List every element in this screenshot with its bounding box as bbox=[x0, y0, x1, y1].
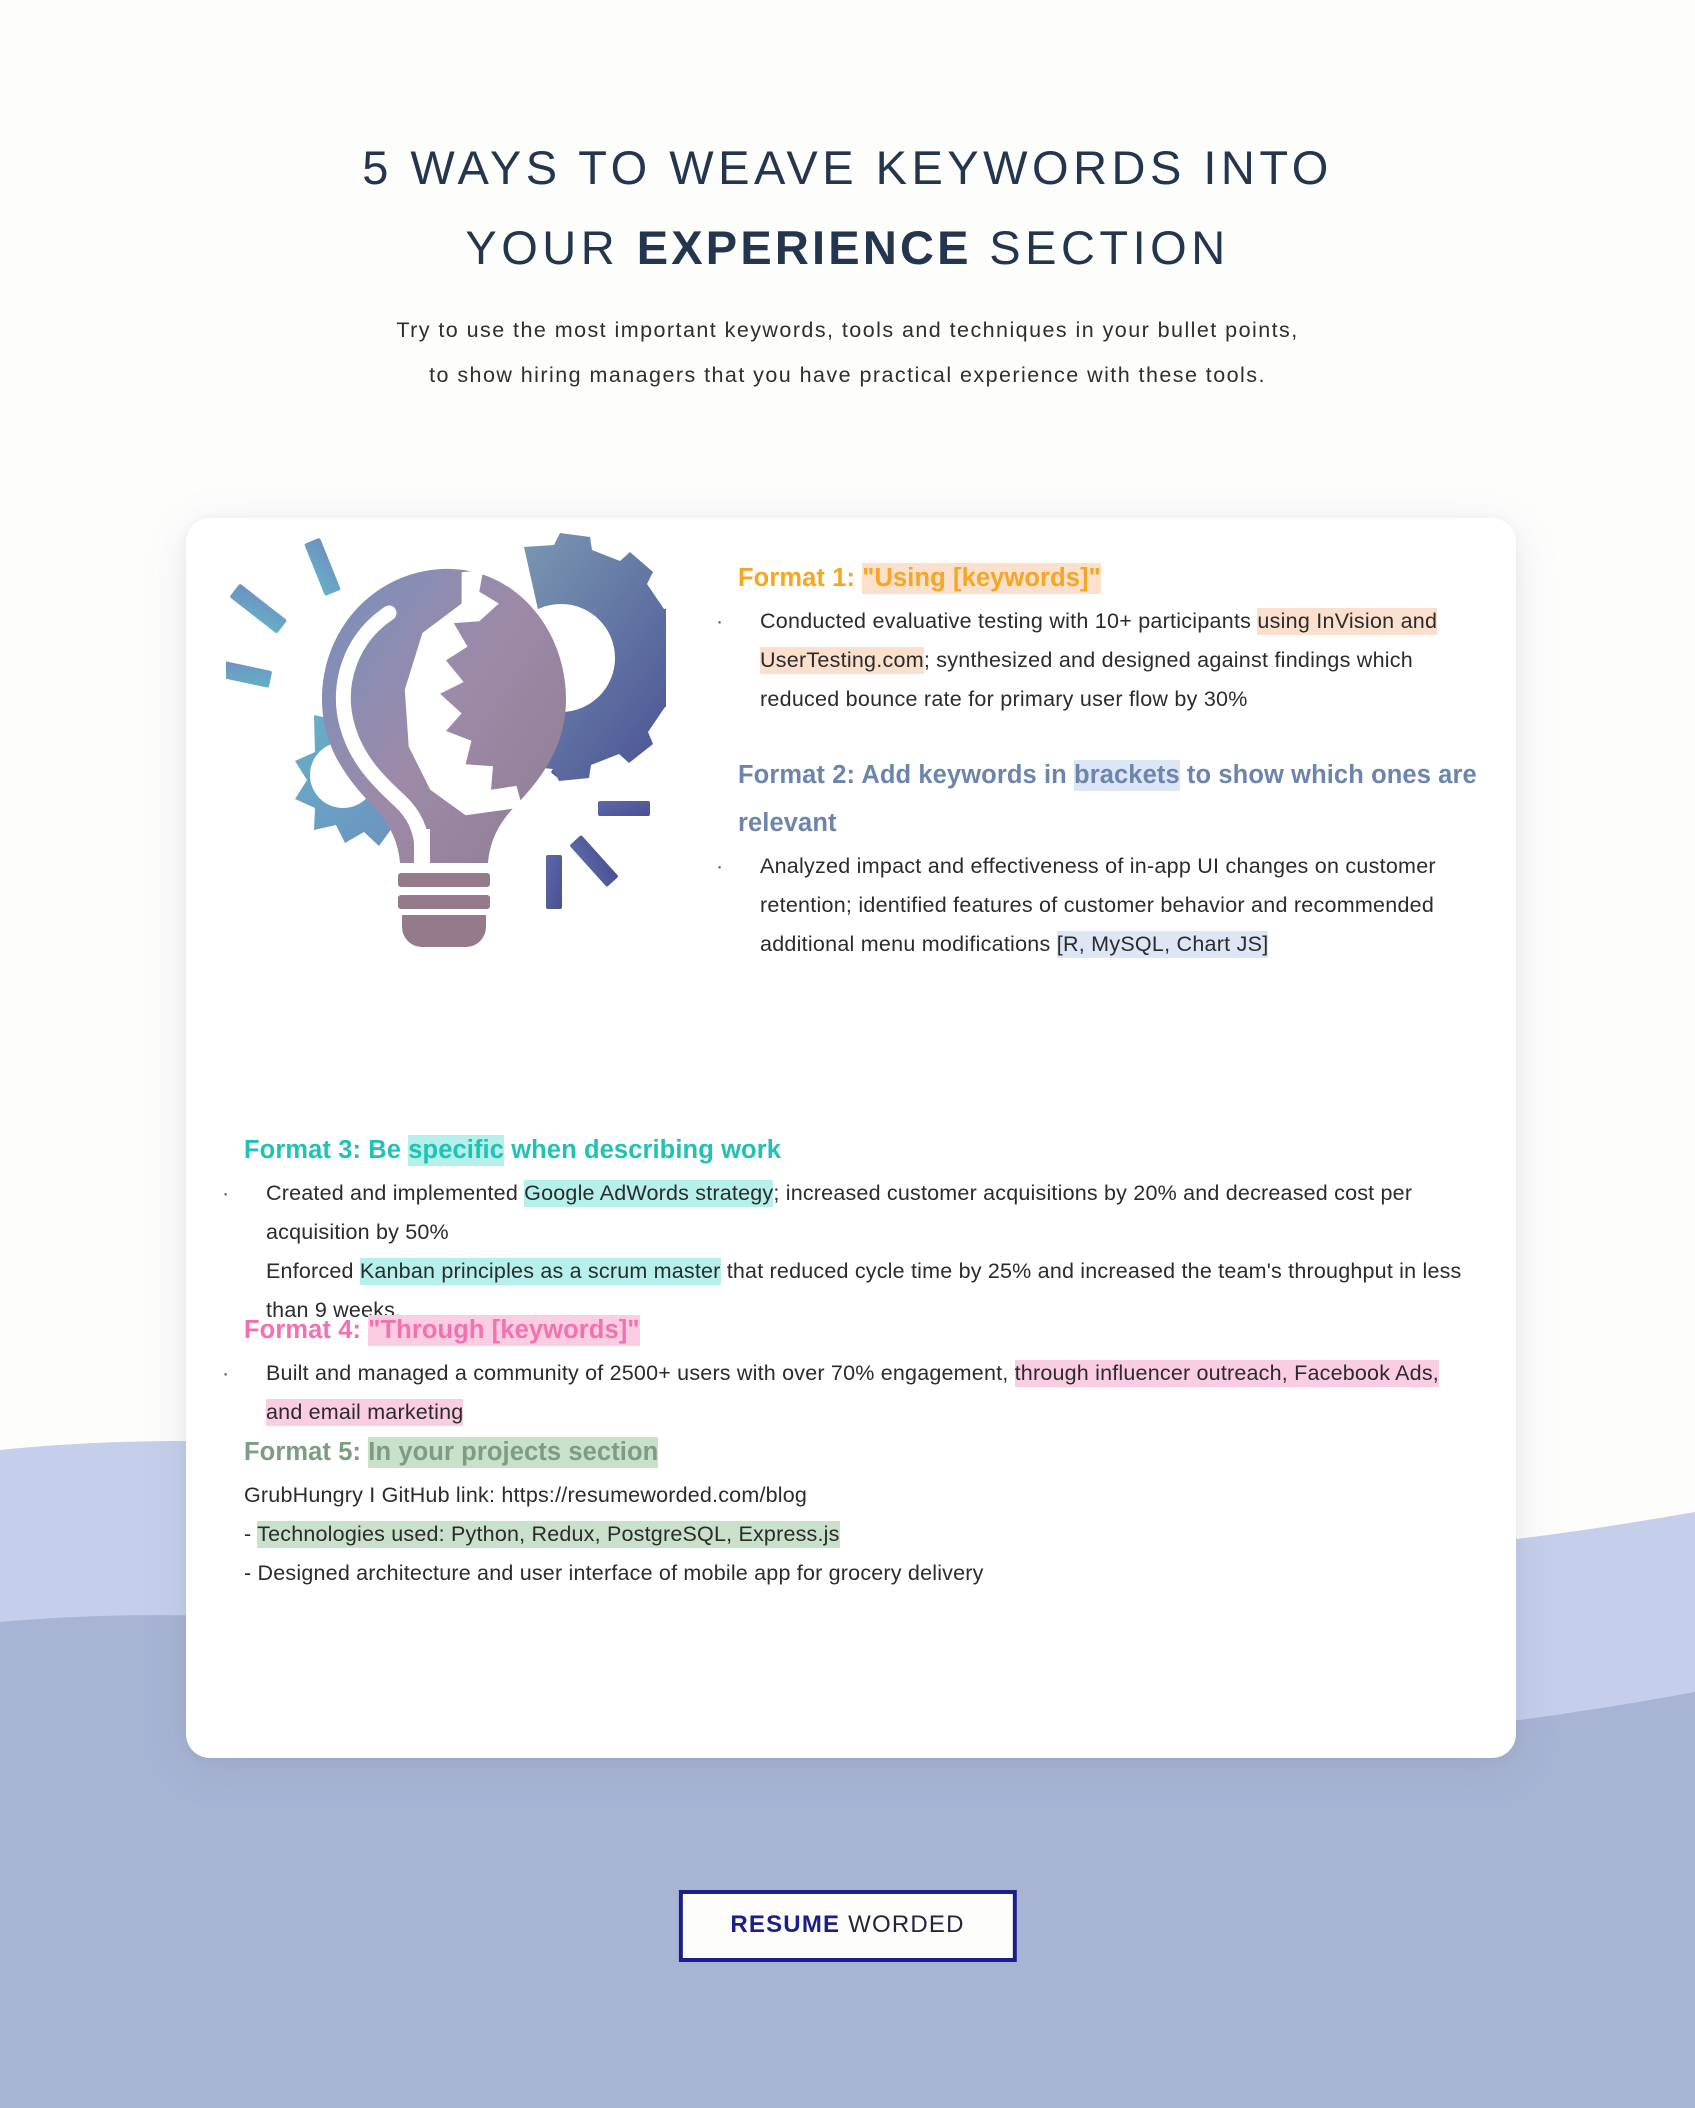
content-card: Format 1: "Using [keywords]" ·Conducted … bbox=[186, 518, 1516, 1758]
format-3-heading: Format 3: Be specific when describing wo… bbox=[244, 1126, 1474, 1174]
format-4-heading-highlight: "Through [keywords]" bbox=[368, 1315, 639, 1346]
format-2-heading: Format 2: Add keywords in brackets to sh… bbox=[738, 751, 1478, 847]
page-header: 5 WAYS TO WEAVE KEYWORDS INTO YOUR EXPER… bbox=[0, 0, 1695, 398]
format-5-line-c: - Designed architecture and user interfa… bbox=[244, 1554, 1474, 1593]
format-5-line-b-prefix: - bbox=[244, 1522, 257, 1546]
format-3-heading-highlight: specific bbox=[408, 1135, 504, 1166]
format-3-block: Format 3: Be specific when describing wo… bbox=[244, 1126, 1474, 1330]
format-1-body-part-0: Conducted evaluative testing with 10+ pa… bbox=[760, 609, 1257, 633]
page-subtitle-line-2: to show hiring managers that you have pr… bbox=[218, 353, 1478, 398]
format-column-top: Format 1: "Using [keywords]" ·Conducted … bbox=[738, 554, 1478, 964]
format-1-heading-highlight: "Using [keywords]" bbox=[862, 563, 1101, 594]
page-title-line-2-post: SECTION bbox=[972, 221, 1230, 274]
format-3-body1-part-1: Google AdWords strategy bbox=[524, 1180, 773, 1207]
resume-worded-logo[interactable]: RESUME WORDED bbox=[678, 1890, 1016, 1962]
bullet-marker: · bbox=[222, 1354, 229, 1393]
format-1-heading: Format 1: "Using [keywords]" bbox=[738, 554, 1478, 602]
format-2-body-part-1: [R, MySQL, Chart JS] bbox=[1057, 931, 1269, 958]
format-3-heading-plain: Format 3: Be bbox=[244, 1136, 408, 1164]
format-5-line-a: GrubHungry I GitHub link: https://resume… bbox=[244, 1476, 1474, 1515]
lightbulb-gears-icon bbox=[226, 533, 666, 953]
format-4-heading: Format 4: "Through [keywords]" bbox=[244, 1306, 1474, 1354]
format-3-body2-part-0: Enforced bbox=[266, 1259, 360, 1283]
page-title-line-2: YOUR EXPERIENCE SECTION bbox=[268, 208, 1428, 288]
logo-bold-word: RESUME bbox=[730, 1911, 840, 1938]
format-4-block: Format 4: "Through [keywords]" ·Built an… bbox=[244, 1306, 1474, 1432]
format-2-heading-highlight: brackets bbox=[1074, 760, 1180, 791]
page-subtitle: Try to use the most important keywords, … bbox=[218, 308, 1478, 398]
format-2-body: ·Analyzed impact and effectiveness of in… bbox=[738, 847, 1478, 964]
format-3-body2-part-1: Kanban principles as a scrum master bbox=[360, 1258, 721, 1285]
format-5-heading: Format 5: In your projects section bbox=[244, 1428, 1474, 1476]
page-title-emphasis: EXPERIENCE bbox=[637, 221, 972, 274]
format-5-heading-highlight: In your projects section bbox=[368, 1437, 658, 1468]
bulb-base bbox=[398, 873, 490, 947]
format-5-line-b: - Technologies used: Python, Redux, Post… bbox=[244, 1515, 1474, 1554]
format-4-heading-plain: Format 4: bbox=[244, 1316, 368, 1344]
page-subtitle-line-1: Try to use the most important keywords, … bbox=[218, 308, 1478, 353]
light-rays-left bbox=[226, 538, 341, 688]
format-1-heading-plain: Format 1: bbox=[738, 564, 862, 592]
format-5-line-b-highlight: Technologies used: Python, Redux, Postgr… bbox=[257, 1521, 839, 1548]
format-3-body-1: ·Created and implemented Google AdWords … bbox=[244, 1174, 1474, 1252]
format-1-block: Format 1: "Using [keywords]" ·Conducted … bbox=[738, 554, 1478, 719]
format-5-block: Format 5: In your projects section GrubH… bbox=[244, 1428, 1474, 1593]
bullet-marker: · bbox=[716, 847, 723, 886]
format-3-body1-part-0: Created and implemented bbox=[266, 1181, 524, 1205]
format-5-heading-plain: Format 5: bbox=[244, 1438, 368, 1466]
page-title: 5 WAYS TO WEAVE KEYWORDS INTO YOUR EXPER… bbox=[268, 128, 1428, 288]
format-4-body: ·Built and managed a community of 2500+ … bbox=[244, 1354, 1474, 1432]
bullet-marker: · bbox=[716, 602, 723, 641]
format-2-block: Format 2: Add keywords in brackets to sh… bbox=[738, 751, 1478, 964]
format-1-body: ·Conducted evaluative testing with 10+ p… bbox=[738, 602, 1478, 719]
format-2-heading-plain: Format 2: Add keywords in bbox=[738, 761, 1074, 789]
format-4-body-part-0: Built and managed a community of 2500+ u… bbox=[266, 1361, 1015, 1385]
page-title-line-1: 5 WAYS TO WEAVE KEYWORDS INTO bbox=[268, 128, 1428, 208]
logo-light-word: WORDED bbox=[840, 1911, 964, 1938]
bullet-marker: · bbox=[222, 1174, 229, 1213]
format-3-heading-tail: when describing work bbox=[504, 1136, 781, 1164]
page-title-line-2-pre: YOUR bbox=[465, 221, 636, 274]
